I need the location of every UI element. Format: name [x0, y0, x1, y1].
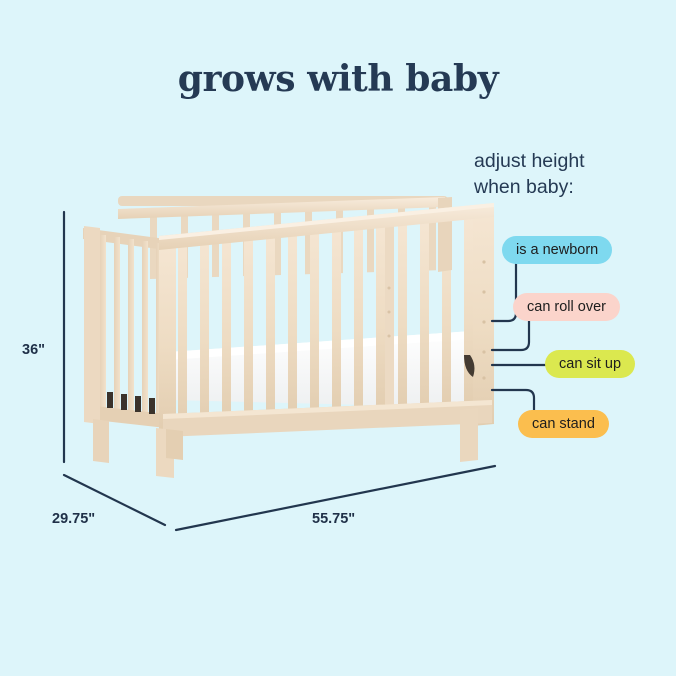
infographic-canvas: grows with baby: [0, 0, 676, 676]
prompt-line-1: adjust height: [474, 148, 674, 174]
milestone-pill-roll-over[interactable]: can roll over: [513, 293, 620, 321]
milestone-pill-stand[interactable]: can stand: [518, 410, 609, 438]
dimension-width-label: 55.75": [312, 511, 355, 527]
dimension-height-label: 36": [22, 342, 45, 358]
prompt-line-2: when baby:: [474, 174, 674, 200]
dimension-lines: [0, 0, 676, 676]
adjust-height-prompt: adjust height when baby:: [474, 148, 674, 200]
milestone-pill-newborn[interactable]: is a newborn: [502, 236, 612, 264]
dimension-depth-label: 29.75": [52, 511, 95, 527]
milestone-pill-sit-up[interactable]: can sit up: [545, 350, 635, 378]
